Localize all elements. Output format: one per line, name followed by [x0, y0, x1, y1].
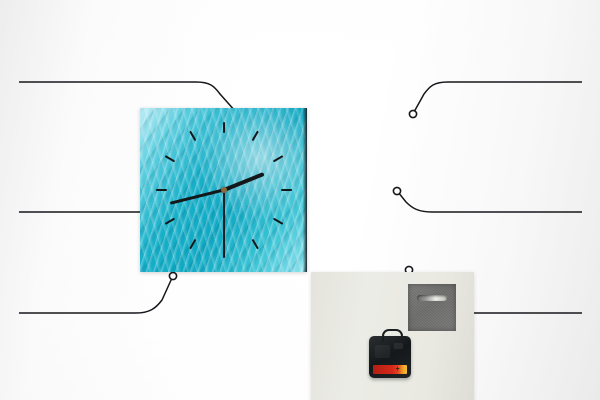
hanger-loop-icon [382, 329, 403, 342]
connector-mecanisme [398, 192, 582, 212]
hanger-slot [417, 295, 447, 301]
movement-detail [375, 345, 390, 358]
clock-dial [140, 108, 307, 272]
connector-dot-poignees [409, 110, 416, 117]
clock-second-hand [223, 190, 225, 252]
clock-movement-box: + [369, 336, 411, 378]
metal-hanger-plate [408, 284, 456, 331]
connector-dot-mecanisme [393, 187, 400, 194]
infographic-canvas: + VERRE TREMPÉ Résistant aux bris et aux… [0, 0, 600, 400]
clock-face [140, 108, 307, 272]
clock-center-cap [221, 187, 227, 193]
connector-poignees [414, 82, 582, 112]
hour-tick [224, 189, 292, 191]
hour-tick [223, 122, 225, 190]
connector-bords [19, 278, 172, 313]
movement-detail [394, 343, 403, 349]
battery: + [373, 365, 407, 374]
connector-dot-bords [169, 272, 176, 279]
clock-back-panel: + [311, 272, 474, 400]
